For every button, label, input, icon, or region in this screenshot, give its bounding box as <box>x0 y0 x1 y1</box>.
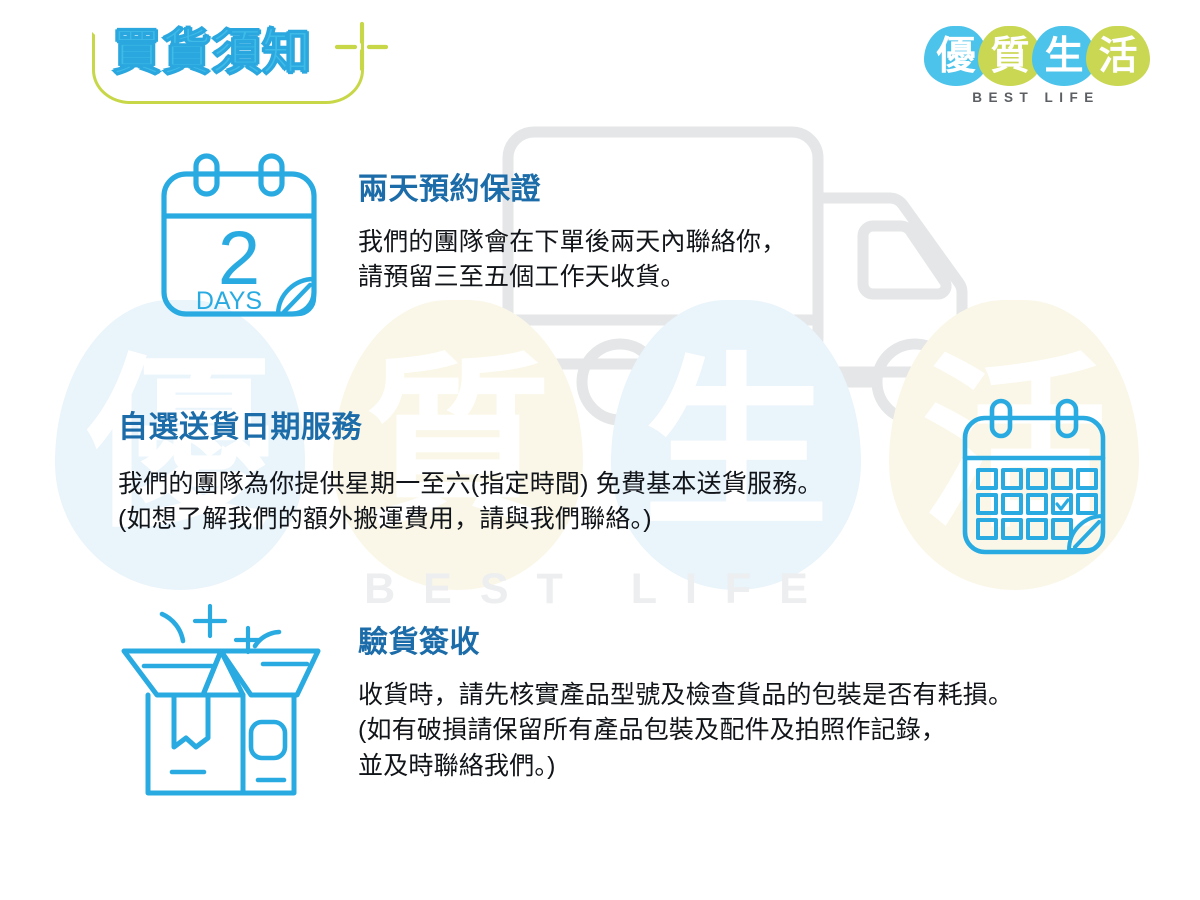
page-title-text: 買貨須知 <box>112 28 312 79</box>
logo-blob-3: 活 <box>1086 26 1150 86</box>
logo-blob-char: 活 <box>1086 26 1150 86</box>
brand-logo[interactable]: 優 質 生 活 BEST LIFE <box>924 26 1148 114</box>
promo-page: 優 質 生 活 BEST LIFE 買貨須知 <box>0 0 1200 900</box>
logo-blobs: 優 質 生 活 <box>924 26 1148 88</box>
sparkle-cross-icon <box>328 18 390 80</box>
logo-subtitle: BEST LIFE <box>924 90 1148 105</box>
page-header: 買貨須知 優 質 生 <box>0 0 1200 900</box>
